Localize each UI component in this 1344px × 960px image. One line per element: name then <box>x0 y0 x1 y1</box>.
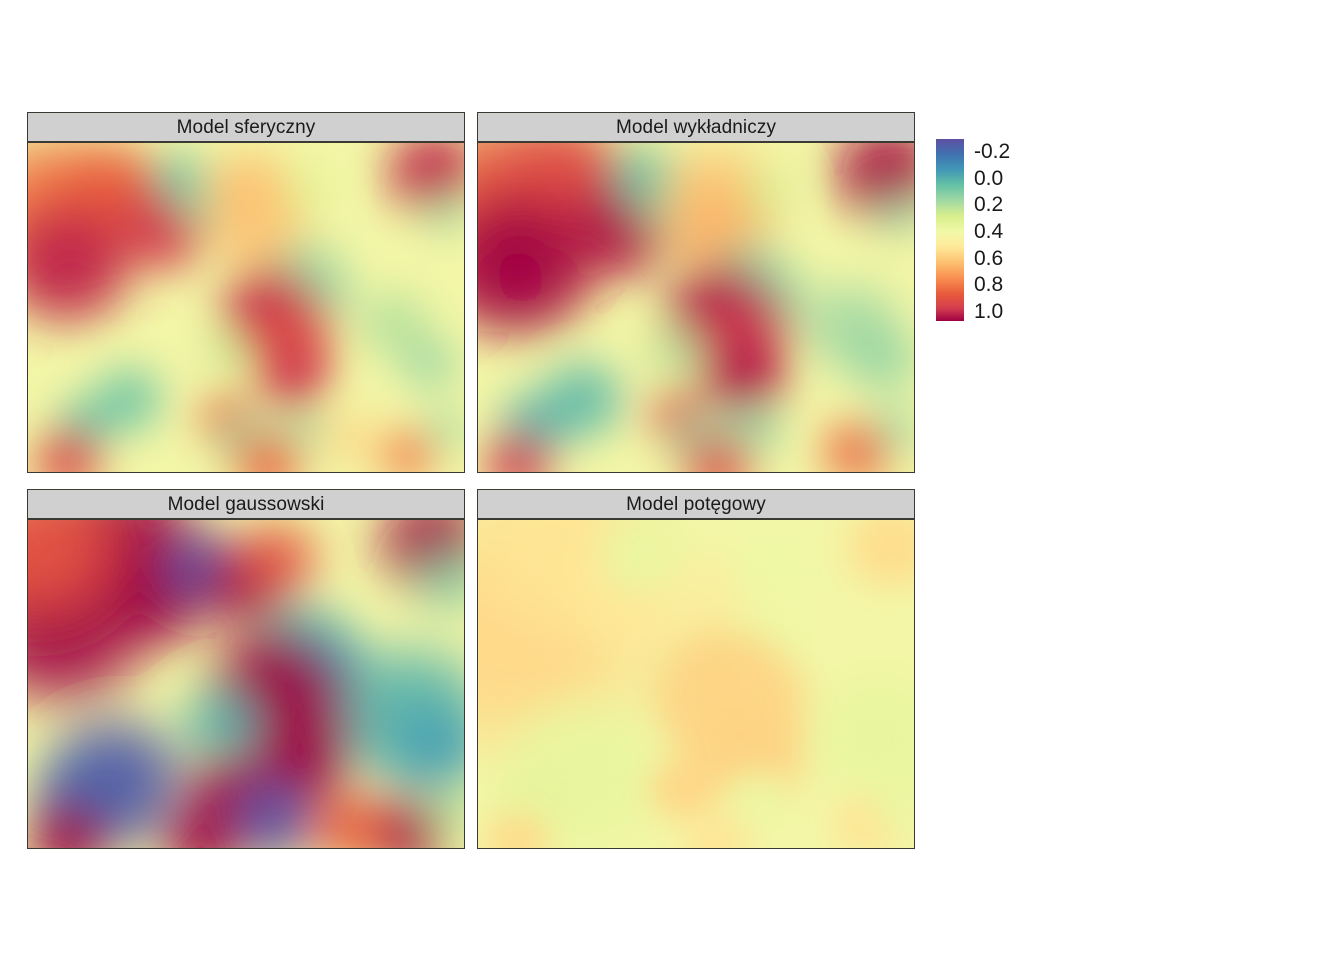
heatmap-surface-power <box>478 520 914 848</box>
heatmap-surface-gaussian <box>28 520 464 848</box>
colorbar-tick-label: 1.0 <box>974 301 1003 322</box>
colorbar-legend: -0.20.00.20.40.60.81.0 <box>936 139 1046 321</box>
colorbar-tick-label: 0.2 <box>974 194 1003 215</box>
facet-power: Model potęgowy <box>477 489 915 849</box>
facet-strip-spherical: Model sferyczny <box>27 112 465 142</box>
facet-title-power: Model potęgowy <box>626 495 766 514</box>
facet-panel-spherical <box>27 142 465 473</box>
colorbar-tick-label: -0.2 <box>974 141 1010 162</box>
facet-title-exponential: Model wykładniczy <box>616 118 776 137</box>
colorbar-tick-label: 0.6 <box>974 248 1003 269</box>
colorbar-tick-label: 0.4 <box>974 221 1003 242</box>
facet-gaussian: Model gaussowski <box>27 489 465 849</box>
facet-exponential: Model wykładniczy <box>477 112 915 473</box>
facet-panel-exponential <box>477 142 915 473</box>
facet-panel-power <box>477 519 915 849</box>
kriging-facet-figure: Model sferycznyModel wykładniczyModel ga… <box>0 0 1344 960</box>
facet-strip-gaussian: Model gaussowski <box>27 489 465 519</box>
facet-title-spherical: Model sferyczny <box>177 118 316 137</box>
facet-panel-gaussian <box>27 519 465 849</box>
facet-title-gaussian: Model gaussowski <box>168 495 325 514</box>
facet-strip-exponential: Model wykładniczy <box>477 112 915 142</box>
colorbar-tick-label: 0.0 <box>974 168 1003 189</box>
heatmap-surface-spherical <box>28 143 464 472</box>
heatmap-surface-exponential <box>478 143 914 472</box>
facet-spherical: Model sferyczny <box>27 112 465 473</box>
colorbar-tick-label: 0.8 <box>974 274 1003 295</box>
colorbar-gradient <box>936 139 964 321</box>
facet-strip-power: Model potęgowy <box>477 489 915 519</box>
